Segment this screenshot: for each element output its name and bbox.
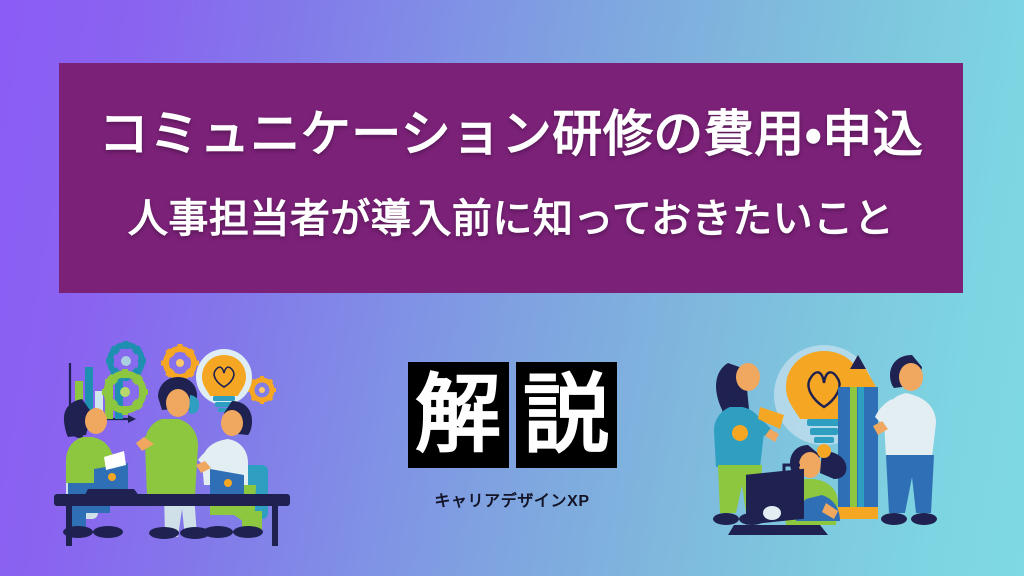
logo-caption: キャリアデザインXP: [434, 487, 589, 511]
brand-logo: 解 説 キャリアデザインXP: [0, 362, 1024, 511]
logo-squares: 解 説: [408, 362, 617, 468]
slide-canvas: コミュニケーション研修の費用・申込 人事担当者が導入前に知っておきたいこと: [0, 0, 1024, 576]
logo-square-kai: 解: [408, 362, 509, 468]
page-title: コミュニケーション研修の費用・申込: [99, 106, 924, 162]
page-subtitle: 人事担当者が導入前に知っておきたいこと: [128, 196, 894, 242]
logo-square-setsu: 説: [516, 362, 617, 468]
title-band: コミュニケーション研修の費用・申込 人事担当者が導入前に知っておきたいこと: [59, 63, 963, 293]
